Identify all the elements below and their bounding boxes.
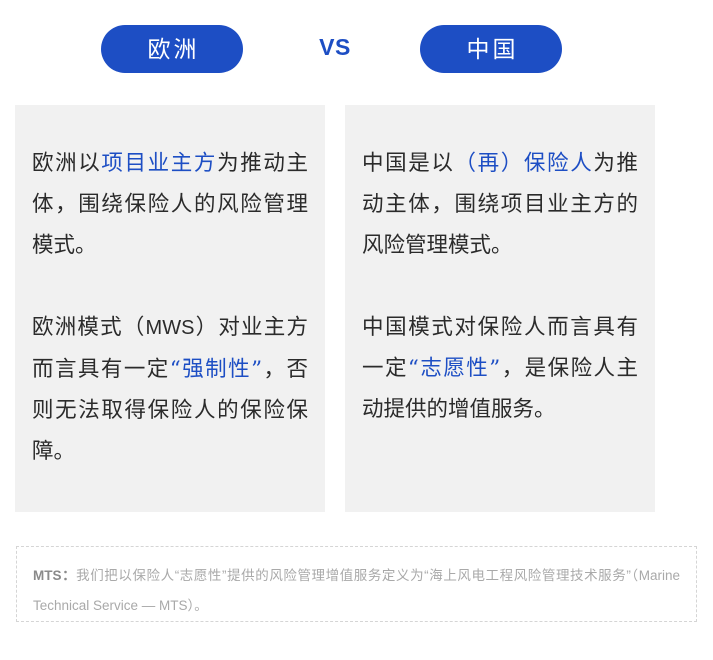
pill-europe[interactable]: 欧洲 [101, 25, 243, 73]
highlighted-text: “志愿性” [408, 356, 500, 381]
pill-china[interactable]: 中国 [420, 25, 562, 73]
comparison-infographic: 欧洲 VS 中国 欧洲以项目业主方为推动主体，围绕保险人的风险管理模式。欧洲模式… [0, 0, 713, 660]
panel-china: 中国是以（再）保险人为推动主体，围绕项目业主方的风险管理模式。中国模式对保险人而… [345, 105, 655, 512]
panel-europe: 欧洲以项目业主方为推动主体，围绕保险人的风险管理模式。欧洲模式（MWS）对业主方… [15, 105, 325, 512]
panel-paragraph: 欧洲模式（MWS）对业主方而言具有一定“强制性”，否则无法取得保险人的保险保障。 [32, 307, 308, 472]
body-text: 中国是以 [362, 151, 455, 176]
comparison-panels: 欧洲以项目业主方为推动主体，围绕保险人的风险管理模式。欧洲模式（MWS）对业主方… [15, 105, 655, 512]
footnote-label: MTS： [33, 568, 76, 583]
body-text: 欧洲以 [32, 151, 101, 176]
body-text: MWS [146, 317, 195, 339]
panel-paragraph: 中国是以（再）保险人为推动主体，围绕项目业主方的风险管理模式。 [362, 143, 638, 266]
footnote-text: MTS：我们把以保险人“志愿性”提供的风险管理增值服务定义为“海上风电工程风险管… [33, 561, 680, 621]
highlighted-text: “强制性” [170, 357, 262, 382]
highlighted-text: 项目业主方 [101, 151, 217, 176]
panel-paragraph: 中国模式对保险人而言具有一定“志愿性”，是保险人主动提供的增值服务。 [362, 307, 638, 430]
vs-label: VS [305, 34, 365, 61]
footnote-body: 我们把以保险人“志愿性”提供的风险管理增值服务定义为“海上风电工程风险管理技术服… [33, 568, 680, 613]
panel-paragraph: 欧洲以项目业主方为推动主体，围绕保险人的风险管理模式。 [32, 143, 308, 266]
body-text: 欧洲模式（ [32, 315, 146, 340]
highlighted-text: （再）保险人 [455, 151, 594, 176]
footnote-box: MTS：我们把以保险人“志愿性”提供的风险管理增值服务定义为“海上风电工程风险管… [16, 546, 697, 622]
header-row: 欧洲 VS 中国 [0, 25, 713, 73]
